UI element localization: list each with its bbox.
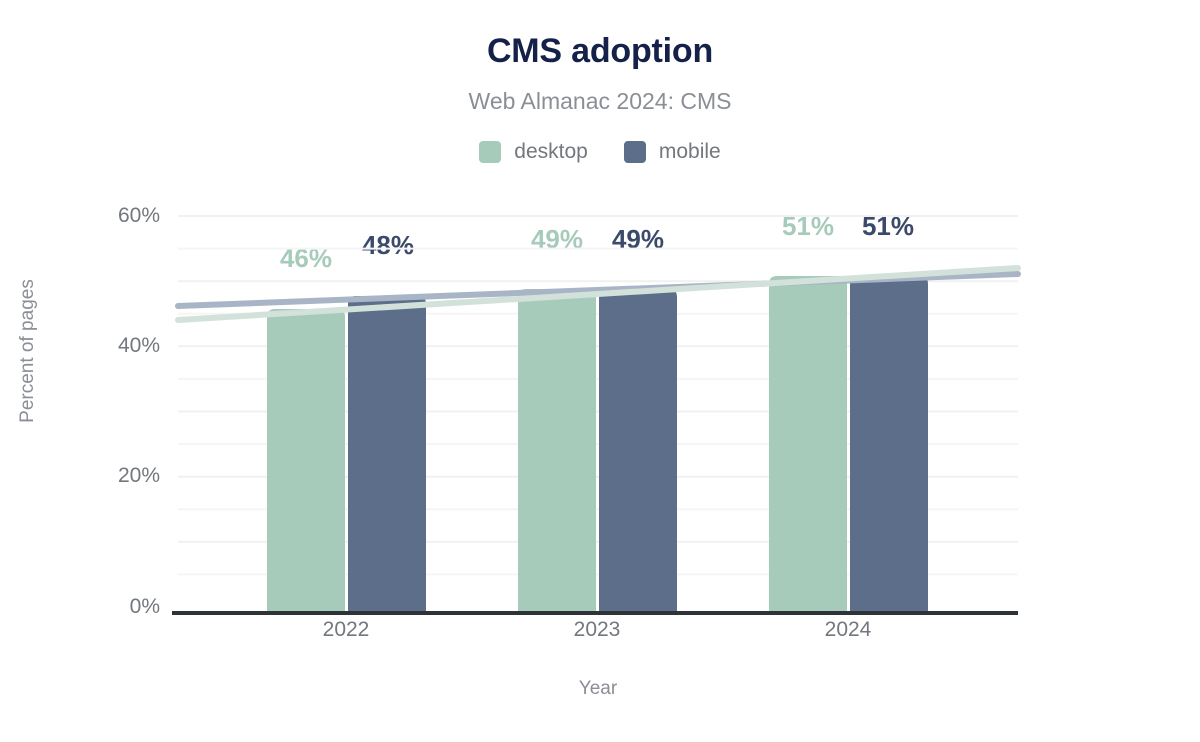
bar-mobile-2023[interactable] [599, 289, 677, 613]
bar-desktop-2024[interactable] [769, 276, 847, 613]
chart-container: CMS adoption Web Almanac 2024: CMS deskt… [0, 0, 1200, 742]
bar-mobile-2022[interactable] [348, 296, 426, 613]
bar-desktop-2022[interactable] [267, 309, 345, 613]
bars-2022 [267, 296, 426, 613]
plot-area [0, 0, 1200, 742]
bars-2023 [518, 289, 677, 613]
bar-desktop-2023[interactable] [518, 289, 596, 613]
bar-mobile-2024[interactable] [850, 276, 928, 613]
